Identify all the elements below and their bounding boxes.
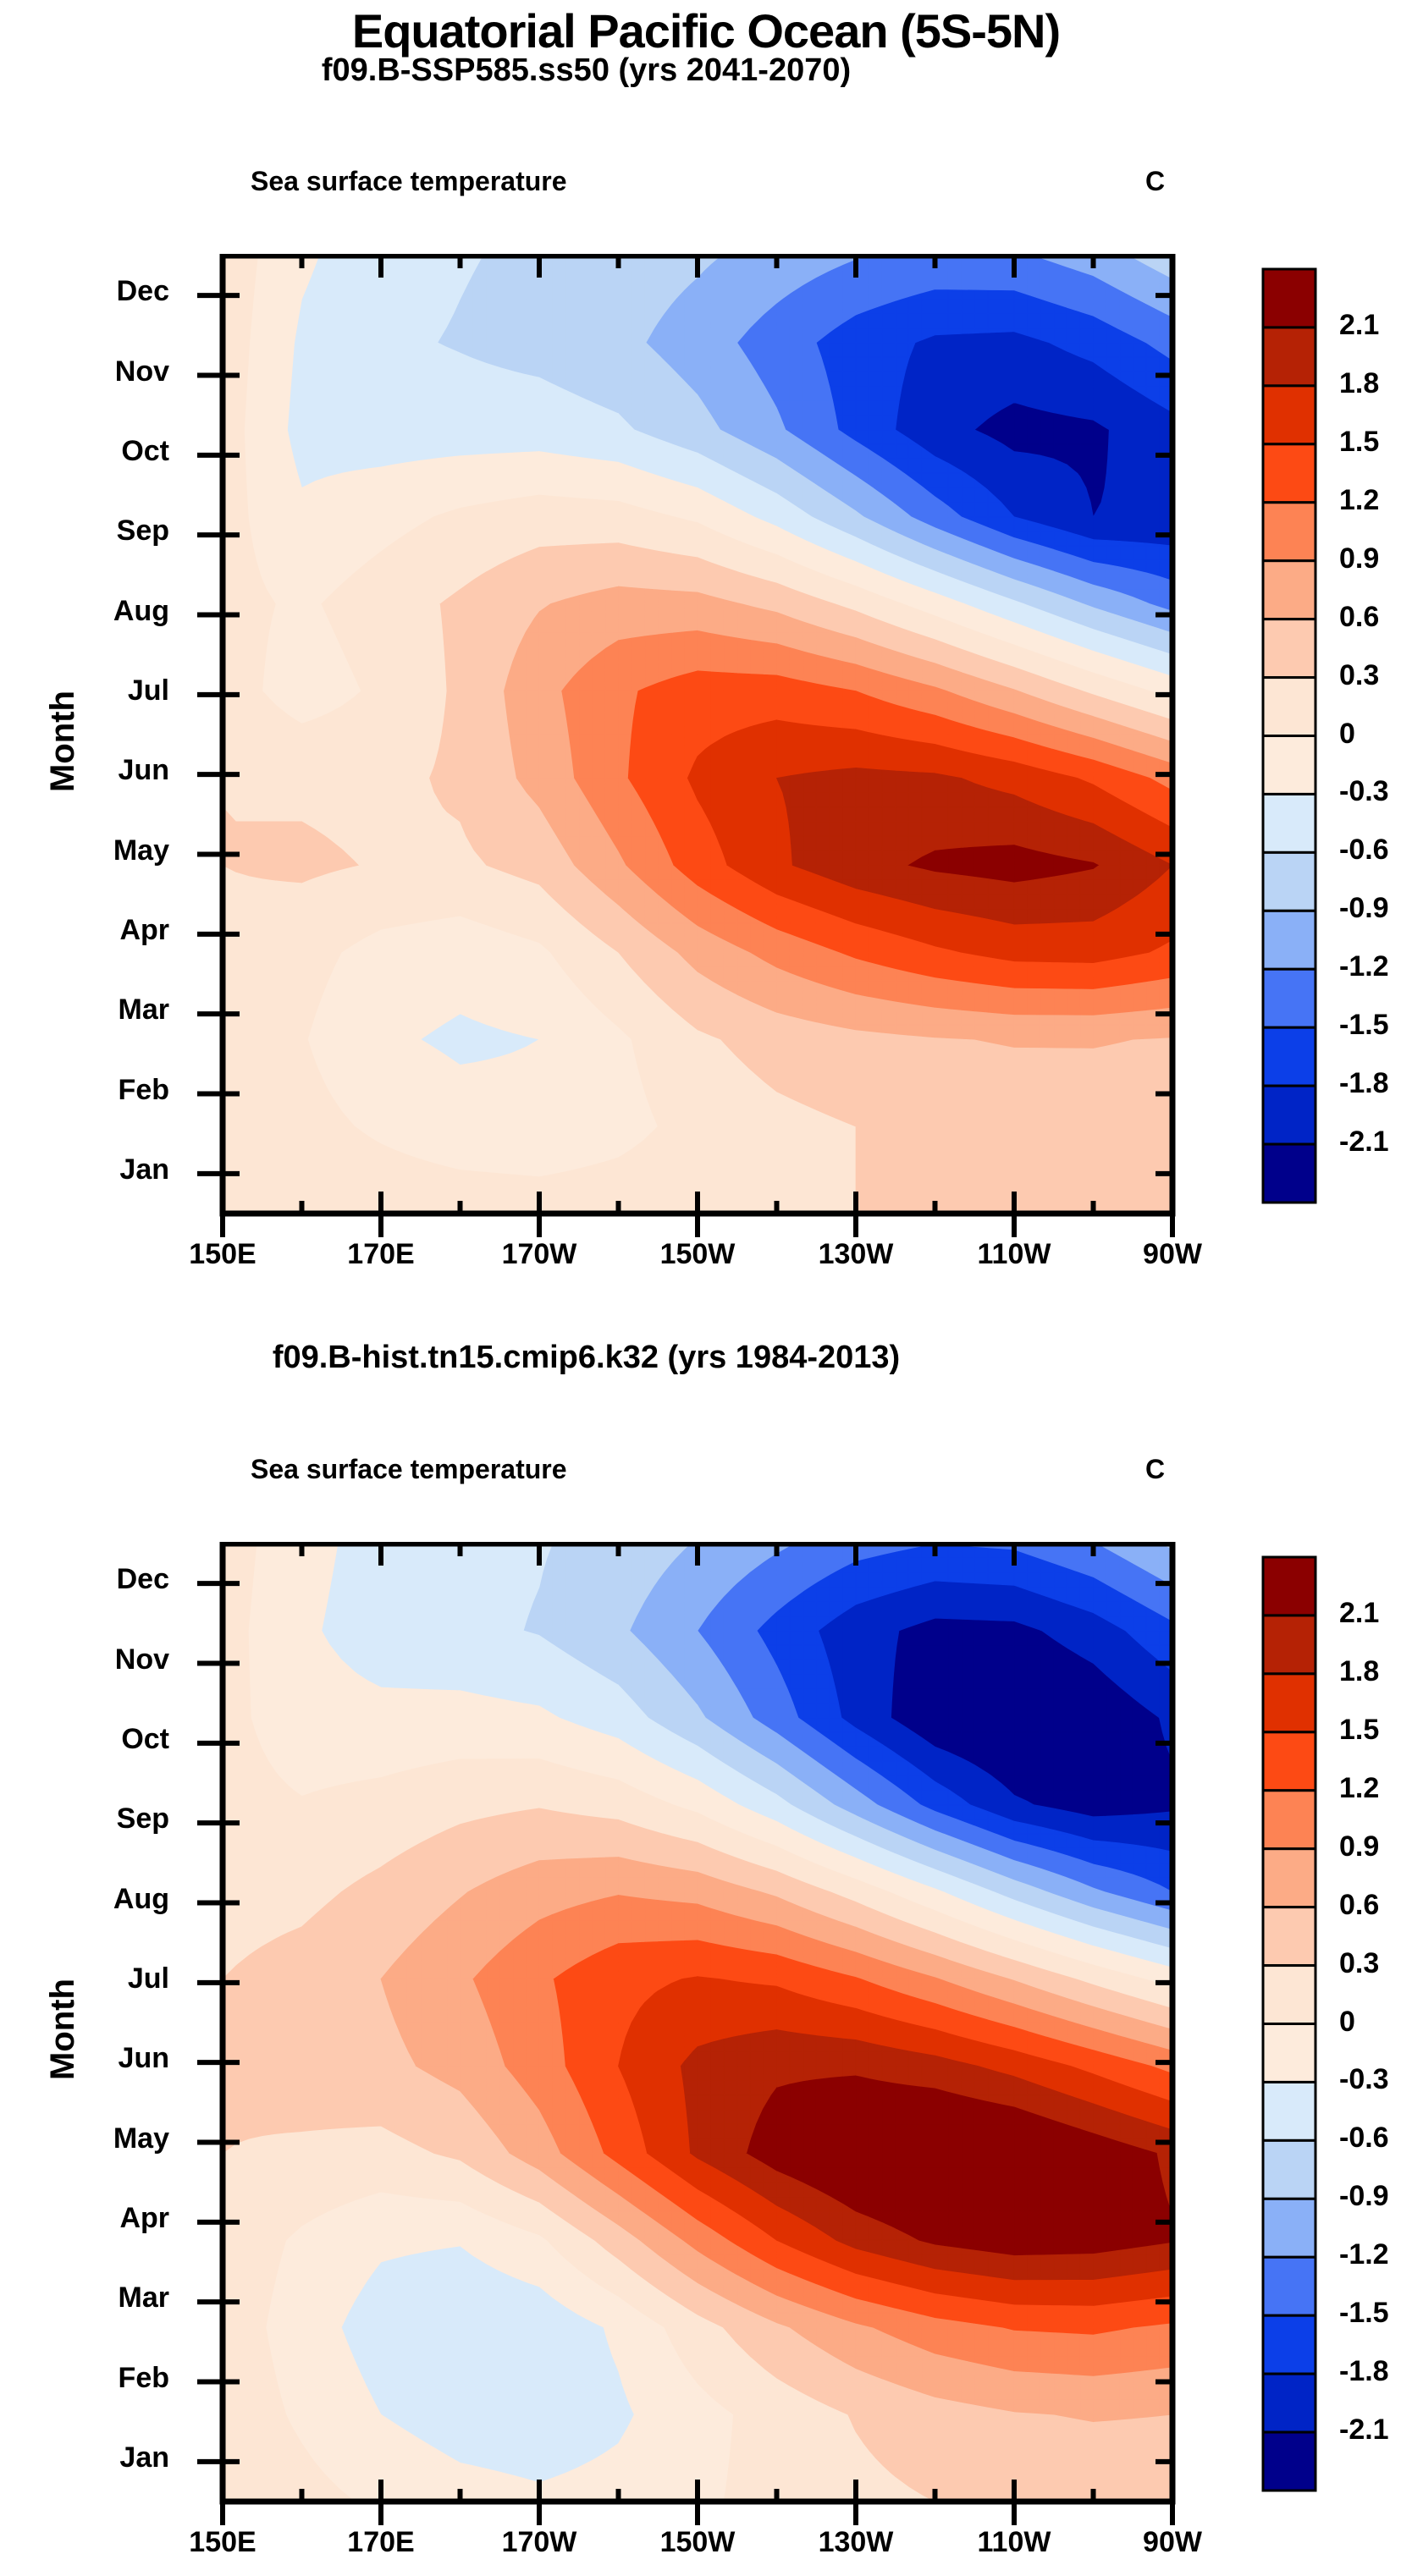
colorbar-label: 1.5: [1339, 426, 1379, 459]
units-label: C: [1145, 166, 1165, 197]
units-label: C: [1145, 1454, 1165, 1485]
colorbar-swatch: [1263, 1791, 1315, 1849]
colorbar-swatch: [1263, 2315, 1315, 2374]
colorbar-swatch: [1263, 736, 1315, 795]
colorbar-label: 2.1: [1339, 309, 1379, 342]
colorbar-label: -0.3: [1339, 2063, 1389, 2096]
colorbar-label: 0: [1339, 2006, 1355, 2039]
colorbar-label: -1.2: [1339, 2238, 1389, 2271]
colorbar-swatch: [1263, 2140, 1315, 2199]
colorbar-swatch: [1263, 2024, 1315, 2083]
colorbar-swatch: [1263, 2432, 1315, 2491]
colorbar-label: -1.8: [1339, 1067, 1389, 1100]
colorbar: [1258, 264, 1412, 1208]
colorbar-swatch: [1263, 619, 1315, 678]
colorbar-label: 2.1: [1339, 1597, 1379, 1630]
panel-title: f09.B-SSP585.ss50 (yrs 2041-2070): [0, 52, 1172, 89]
colorbar-swatch: [1263, 386, 1315, 444]
colorbar-label: -0.3: [1339, 775, 1389, 808]
colorbar-swatch: [1263, 1616, 1315, 1674]
colorbar-label: -1.2: [1339, 950, 1389, 983]
colorbar-label: 0.6: [1339, 601, 1379, 634]
colorbar-label: -0.6: [1339, 834, 1389, 867]
colorbar-swatch: [1263, 1732, 1315, 1791]
colorbar-swatch: [1263, 1557, 1315, 1616]
colorbar-label: -1.5: [1339, 2297, 1389, 2330]
colorbar-label: 0.9: [1339, 1830, 1379, 1863]
colorbar-label: -2.1: [1339, 1126, 1389, 1159]
colorbar-label: -0.9: [1339, 2180, 1389, 2213]
colorbar-swatch: [1263, 2199, 1315, 2257]
colorbar-label: 1.8: [1339, 1655, 1379, 1688]
colorbar-label: 1.8: [1339, 367, 1379, 400]
colorbar-label: 0.9: [1339, 542, 1379, 575]
colorbar-swatch: [1263, 503, 1315, 561]
panel-title: f09.B-hist.tn15.cmip6.k32 (yrs 1984-2013…: [0, 1340, 1172, 1376]
colorbar-swatch: [1263, 969, 1315, 1027]
colorbar-label: -2.1: [1339, 2414, 1389, 2447]
colorbar-swatch: [1263, 2082, 1315, 2140]
colorbar-swatch: [1263, 1966, 1315, 2024]
colorbar-swatch: [1263, 561, 1315, 619]
colorbar-swatch: [1263, 678, 1315, 736]
colorbar-label: 0.6: [1339, 1889, 1379, 1922]
colorbar-label: 1.5: [1339, 1714, 1379, 1747]
colorbar: [1258, 1552, 1412, 2496]
colorbar-label: 1.2: [1339, 1772, 1379, 1805]
colorbar-swatch: [1263, 269, 1315, 328]
contour-plot: [0, 254, 1412, 1288]
colorbar-swatch: [1263, 1027, 1315, 1086]
colorbar-swatch: [1263, 1907, 1315, 1966]
colorbar-swatch: [1263, 444, 1315, 503]
colorbar-label: 0.3: [1339, 659, 1379, 692]
colorbar-label: -0.6: [1339, 2122, 1389, 2155]
colorbar-label: 0: [1339, 718, 1355, 751]
colorbar-swatch: [1263, 1086, 1315, 1144]
page-title: Equatorial Pacific Ocean (5S-5N): [0, 3, 1412, 58]
colorbar-label: 0.3: [1339, 1947, 1379, 1980]
colorbar-swatch: [1263, 1674, 1315, 1732]
colorbar-swatch: [1263, 911, 1315, 969]
colorbar-swatch: [1263, 1144, 1315, 1203]
variable-label: Sea surface temperature: [251, 166, 567, 197]
colorbar-label: -0.9: [1339, 892, 1389, 925]
contour-plot: [0, 1542, 1412, 2576]
colorbar-label: 1.2: [1339, 484, 1379, 517]
colorbar-swatch: [1263, 794, 1315, 852]
colorbar-swatch: [1263, 2257, 1315, 2315]
colorbar-swatch: [1263, 852, 1315, 911]
colorbar-swatch: [1263, 328, 1315, 386]
colorbar-label: -1.8: [1339, 2355, 1389, 2388]
colorbar-label: -1.5: [1339, 1009, 1389, 1042]
variable-label: Sea surface temperature: [251, 1454, 567, 1485]
colorbar-swatch: [1263, 2374, 1315, 2432]
colorbar-swatch: [1263, 1849, 1315, 1907]
